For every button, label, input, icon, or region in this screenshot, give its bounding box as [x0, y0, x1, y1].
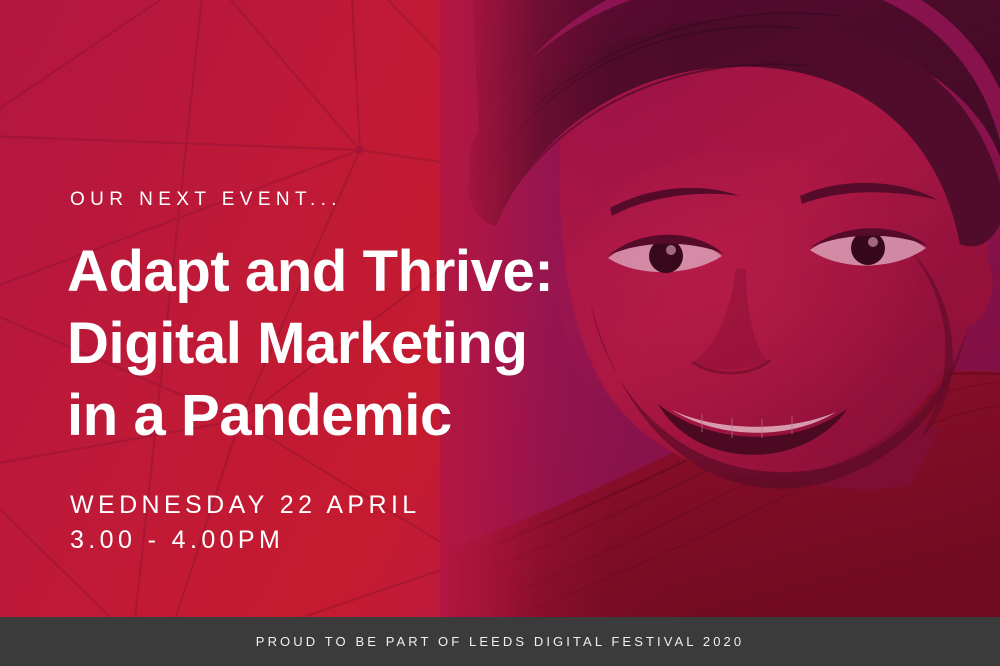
event-datetime: WEDNESDAY 22 APRIL 3.00 - 4.00PM: [70, 488, 421, 558]
footer-credit-text: PROUD TO BE PART OF LEEDS DIGITAL FESTIV…: [256, 634, 744, 649]
event-promo-graphic: OUR NEXT EVENT... Adapt and Thrive: Digi…: [0, 0, 1000, 666]
event-date: WEDNESDAY 22 APRIL: [70, 488, 421, 523]
footer-bar: PROUD TO BE PART OF LEEDS DIGITAL FESTIV…: [0, 617, 1000, 666]
headline-line-1: Adapt and Thrive:: [67, 236, 553, 308]
poster-text-block: OUR NEXT EVENT... Adapt and Thrive: Digi…: [70, 0, 670, 622]
headline-line-3: in a Pandemic: [67, 380, 553, 452]
eyebrow-label: OUR NEXT EVENT...: [70, 189, 342, 211]
headline-line-2: Digital Marketing: [67, 308, 553, 380]
page-title: Adapt and Thrive: Digital Marketing in a…: [67, 236, 553, 452]
event-time: 3.00 - 4.00PM: [70, 523, 421, 558]
